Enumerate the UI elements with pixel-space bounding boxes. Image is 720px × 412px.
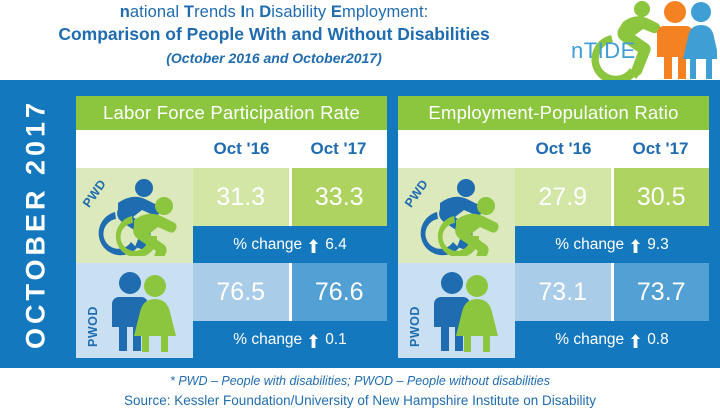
arrow-up-icon bbox=[309, 334, 318, 348]
month-year-text: OCTOBER 2017 bbox=[21, 99, 52, 349]
metric-table-employment-population: Employment-Population Ratio Oct '16 Oct … bbox=[398, 96, 709, 358]
table-row-pwod: PWOD 73.1 73.7 % change 0.8 bbox=[398, 263, 709, 358]
footer-source: Source: Kessler Foundation/University of… bbox=[0, 391, 720, 410]
month-year-label: OCTOBER 2017 bbox=[0, 80, 72, 368]
pwod-value-row: 73.1 73.7 bbox=[515, 263, 709, 321]
header-spacer bbox=[398, 130, 515, 168]
title-block: national Trends In Disability Employment… bbox=[0, 2, 548, 69]
table-column-headers: Oct '16 Oct '17 bbox=[76, 130, 387, 168]
pwod-change-value: 0.8 bbox=[647, 331, 669, 349]
pwod-label: PWOD bbox=[86, 306, 100, 347]
pwod-change-value: 0.1 bbox=[325, 331, 347, 349]
page-title-line1: national Trends In Disability Employment… bbox=[0, 2, 548, 23]
pwod-change-row: % change 0.1 bbox=[193, 321, 387, 358]
pwod-change-row: % change 0.8 bbox=[515, 321, 709, 358]
pwd-icon-cell: PWD bbox=[398, 168, 515, 263]
pwod-value-oct17: 73.7 bbox=[614, 263, 710, 321]
man-woman-standing-icon bbox=[426, 270, 504, 352]
ntide-logo: nTIDE bbox=[565, 0, 717, 80]
pwod-icon-cell: PWOD bbox=[76, 263, 193, 358]
table-title: Labor Force Participation Rate bbox=[76, 96, 387, 130]
page-subtitle: (October 2016 and October2017) bbox=[0, 48, 548, 69]
metric-table-labor-force: Labor Force Participation Rate Oct '16 O… bbox=[76, 96, 387, 358]
pwod-value-oct17: 76.6 bbox=[292, 263, 388, 321]
wheelchair-racers-icon bbox=[420, 176, 510, 256]
column-header-oct17: Oct '17 bbox=[612, 130, 709, 168]
pwd-value-row: 31.3 33.3 bbox=[193, 168, 387, 226]
ntide-logo-text: nTIDE bbox=[571, 38, 636, 64]
footer: * PWD – People with disabilities; PWOD –… bbox=[0, 368, 720, 412]
header: national Trends In Disability Employment… bbox=[0, 0, 720, 80]
table-row-pwd: PWD 31.3 33.3 % change 6.4 bbox=[76, 168, 387, 263]
table-title: Employment-Population Ratio bbox=[398, 96, 709, 130]
change-label: % change bbox=[233, 236, 302, 254]
column-header-oct16: Oct '16 bbox=[193, 130, 290, 168]
pwod-icon-cell: PWOD bbox=[398, 263, 515, 358]
arrow-up-icon bbox=[309, 239, 318, 253]
header-spacer bbox=[76, 130, 193, 168]
pwd-value-oct17: 30.5 bbox=[614, 168, 710, 226]
pwd-change-value: 9.3 bbox=[647, 236, 669, 254]
table-row-pwod: PWOD 76.5 76.6 % change 0.1 bbox=[76, 263, 387, 358]
change-label: % change bbox=[233, 331, 302, 349]
pwod-value-row: 76.5 76.6 bbox=[193, 263, 387, 321]
footer-legend: * PWD – People with disabilities; PWOD –… bbox=[0, 368, 720, 391]
pwod-values: 76.5 76.6 % change 0.1 bbox=[193, 263, 387, 358]
pwd-change-row: % change 9.3 bbox=[515, 226, 709, 263]
column-header-oct17: Oct '17 bbox=[290, 130, 387, 168]
pwd-value-oct17: 33.3 bbox=[292, 168, 388, 226]
pwd-values: 31.3 33.3 % change 6.4 bbox=[193, 168, 387, 263]
wheelchair-racers-icon bbox=[98, 176, 188, 256]
table-row-pwd: PWD 27.9 30.5 % change 9.3 bbox=[398, 168, 709, 263]
pwd-value-oct16: 31.3 bbox=[193, 168, 289, 226]
pwod-values: 73.1 73.7 % change 0.8 bbox=[515, 263, 709, 358]
pwod-label: PWOD bbox=[408, 306, 422, 347]
pwd-values: 27.9 30.5 % change 9.3 bbox=[515, 168, 709, 263]
pwod-value-oct16: 76.5 bbox=[193, 263, 289, 321]
pwd-value-row: 27.9 30.5 bbox=[515, 168, 709, 226]
arrow-up-icon bbox=[631, 239, 640, 253]
table-column-headers: Oct '16 Oct '17 bbox=[398, 130, 709, 168]
change-label: % change bbox=[555, 236, 624, 254]
change-label: % change bbox=[555, 331, 624, 349]
page-title-line2: Comparison of People With and Without Di… bbox=[0, 23, 548, 46]
column-header-oct16: Oct '16 bbox=[515, 130, 612, 168]
man-woman-standing-icon bbox=[104, 270, 182, 352]
pwod-value-oct16: 73.1 bbox=[515, 263, 611, 321]
pwd-icon-cell: PWD bbox=[76, 168, 193, 263]
pwd-value-oct16: 27.9 bbox=[515, 168, 611, 226]
pwd-change-row: % change 6.4 bbox=[193, 226, 387, 263]
arrow-up-icon bbox=[631, 334, 640, 348]
pwd-change-value: 6.4 bbox=[325, 236, 347, 254]
